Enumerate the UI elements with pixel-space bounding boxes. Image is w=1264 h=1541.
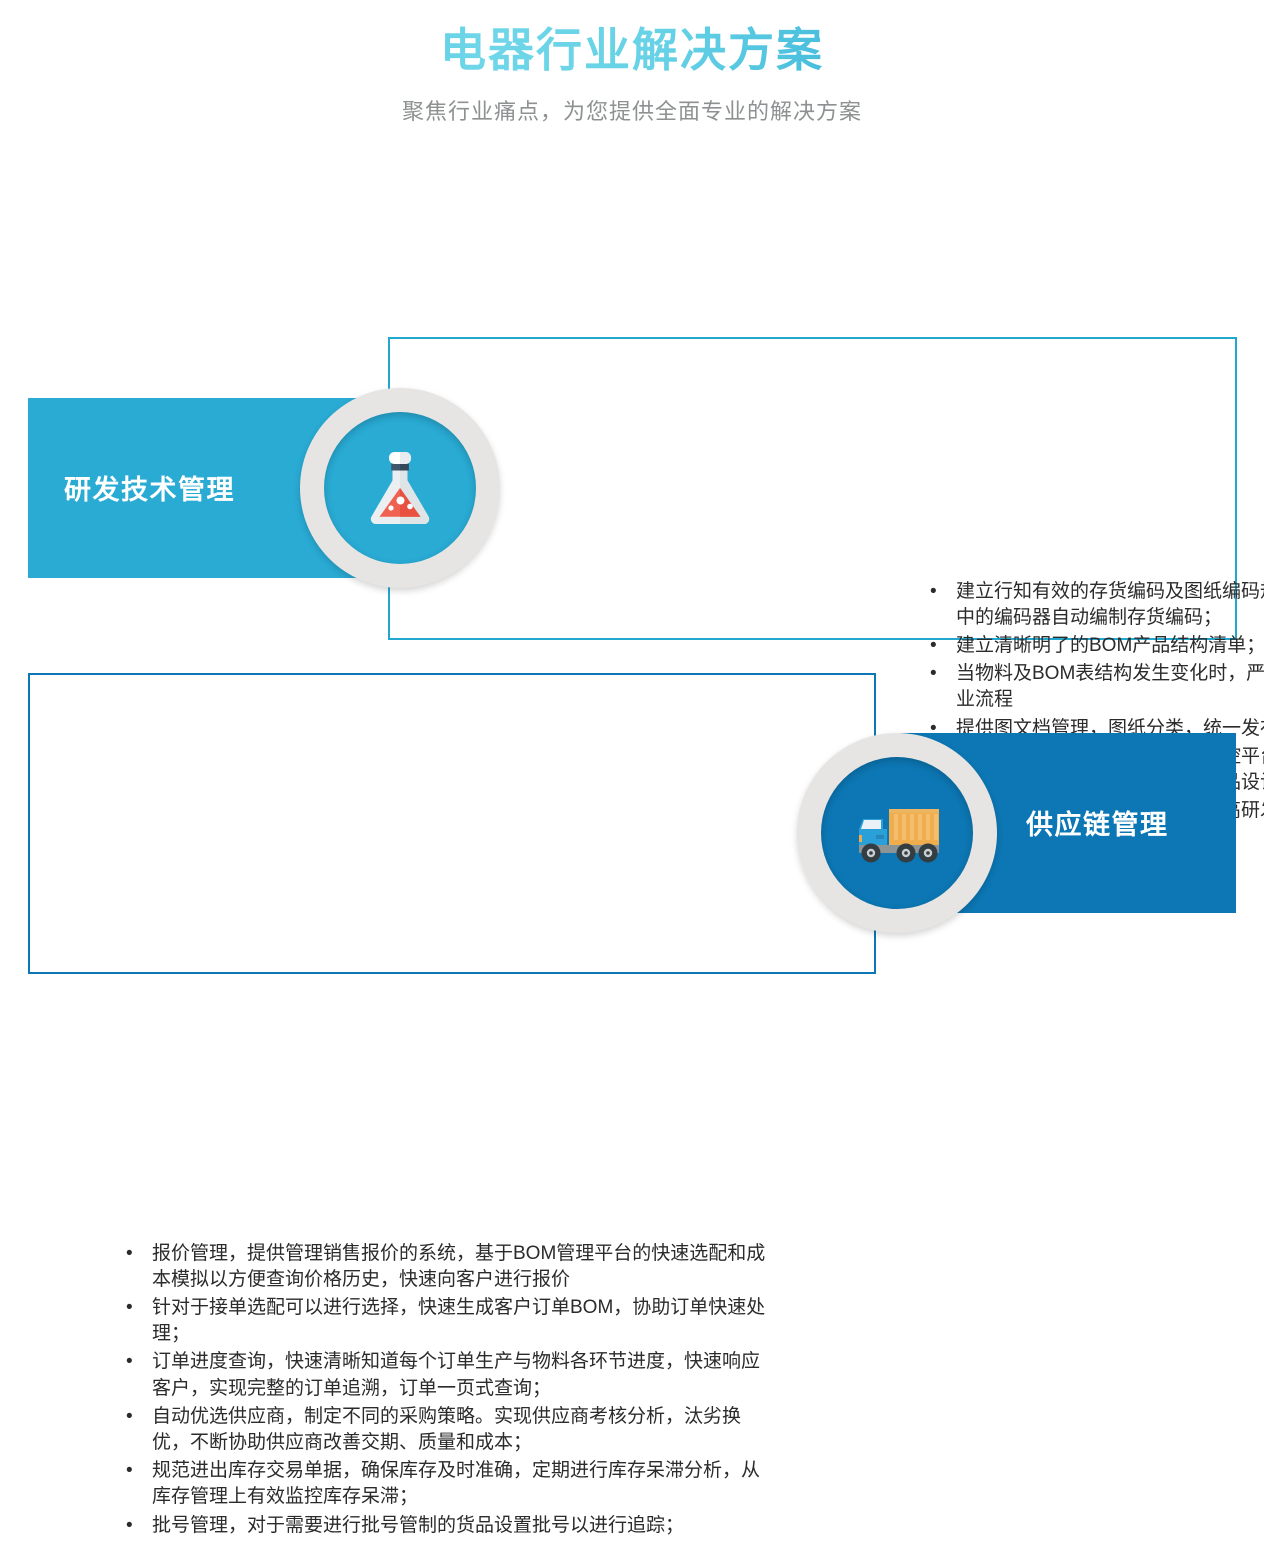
card-icon-medallion [797,733,997,933]
card-content-panel: 报价管理，提供管理销售报价的系统，基于BOM管理平台的快速选配和成本模拟以方便查… [28,673,876,974]
list-item: 报价管理，提供管理销售报价的系统，基于BOM管理平台的快速选配和成本模拟以方便查… [118,1241,768,1293]
page-title: 电器行业解决方案 [0,22,1264,80]
list-item: 建立清晰明了的BOM产品结构清单； [922,633,1264,659]
page-header: 电器行业解决方案 聚焦行业痛点，为您提供全面专业的解决方案 [0,0,1264,126]
list-item: 建立行知有效的存货编码及图纸编码规则，采用顺景ERP系统中的编码器自动编制存货编… [922,579,1264,631]
list-item: 当物料及BOM表结构发生变化时，严格执行ECN\ECR变更作业流程 [922,661,1264,713]
list-item: 订单进度查询，快速清晰知道每个订单生产与物料各环节进度，快速响应客户，实现完整的… [118,1349,768,1401]
medallion-inner-disc [324,412,476,564]
card-content-panel: 建立行知有效的存货编码及图纸编码规则，采用顺景ERP系统中的编码器自动编制存货编… [388,337,1237,640]
medallion-inner-disc [821,757,973,909]
card-label-text: 研发技术管理 [64,468,235,507]
list-item: 批号管理，对于需要进行批号管制的货品设置批号以进行追踪； [118,1513,768,1539]
page-subtitle: 聚焦行业痛点，为您提供全面专业的解决方案 [0,94,1264,126]
list-item: 自动优选供应商，制定不同的采购策略。实现供应商考核分析，汰劣换优，不断协助供应商… [118,1404,768,1456]
card-icon-medallion [300,388,500,588]
list-item: 规范进出库存交易单据，确保库存及时准确，定期进行库存呆滞分析，从库存管理上有效监… [118,1458,768,1510]
bullet-list: 报价管理，提供管理销售报价的系统，基于BOM管理平台的快速选配和成本模拟以方便查… [118,1241,768,1541]
flask-icon [362,448,438,528]
list-item: 针对于接单选配可以进行选择，快速生成客户订单BOM，协助订单快速处理； [118,1295,768,1347]
truck-icon [849,801,945,865]
card-label-text: 供应链管理 [1026,803,1169,842]
